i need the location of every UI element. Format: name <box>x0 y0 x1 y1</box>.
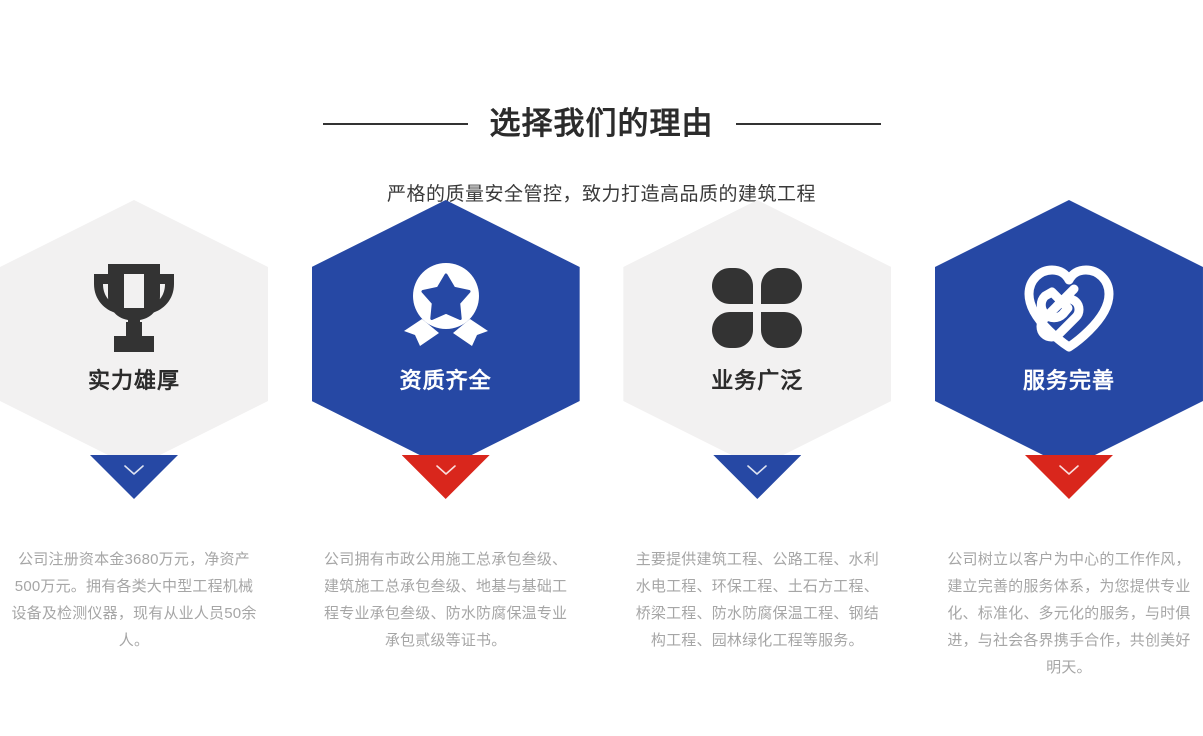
feature-card-description: 主要提供建筑工程、公路工程、水利水电工程、环保工程、土石方工程、桥梁工程、防水防… <box>632 546 882 654</box>
chevron-down-icon <box>435 464 457 477</box>
pointer-triangle <box>402 455 490 499</box>
hexagon-content: 资质齐全 <box>312 200 580 468</box>
pointer-triangle <box>713 455 801 499</box>
title-row: 选择我们的理由 <box>0 84 1203 164</box>
chevron-down-icon <box>1058 464 1080 477</box>
hexagon-badge[interactable]: 业务广泛 <box>623 200 891 496</box>
feature-card[interactable]: 业务广泛 主要提供建筑工程、公路工程、水利水电工程、环保工程、土石方工程、桥梁工… <box>623 200 891 681</box>
pointer-triangle <box>1025 455 1113 499</box>
hexagon-badge[interactable]: 资质齐全 <box>312 200 580 496</box>
title-rule-right <box>736 123 881 125</box>
feature-card-label: 实力雄厚 <box>88 368 180 394</box>
chevron-down-icon <box>746 464 768 477</box>
four-petal-clover-icon <box>712 256 802 360</box>
feature-card-label: 资质齐全 <box>400 368 492 394</box>
section-header: 选择我们的理由 严格的质量安全管控，致力打造高品质的建筑工程 <box>0 0 1203 206</box>
feature-card-description: 公司注册资本金3680万元，净资产500万元。拥有各类大中型工程机械设备及检测仪… <box>9 546 259 654</box>
chevron-down-icon <box>123 464 145 477</box>
hexagon-content: 服务完善 <box>935 200 1203 468</box>
feature-card-description: 公司拥有市政公用施工总承包叁级、建筑施工总承包叁级、地基与基础工程专业承包叁级、… <box>321 546 571 654</box>
feature-card[interactable]: 服务完善 公司树立以客户为中心的工作作风，建立完善的服务体系，为您提供专业化、标… <box>935 200 1203 681</box>
hexagon-content: 业务广泛 <box>623 200 891 468</box>
award-medal-icon <box>400 256 492 360</box>
hexagon-badge[interactable]: 实力雄厚 <box>0 200 268 496</box>
feature-card[interactable]: 实力雄厚 公司注册资本金3680万元，净资产500万元。拥有各类大中型工程机械设… <box>0 200 268 681</box>
page-title: 选择我们的理由 <box>490 105 714 143</box>
feature-card-label: 服务完善 <box>1023 368 1115 394</box>
feature-card-list: 实力雄厚 公司注册资本金3680万元，净资产500万元。拥有各类大中型工程机械设… <box>0 200 1203 681</box>
title-rule-left <box>323 123 468 125</box>
interlocking-hands-heart-icon <box>1019 256 1119 360</box>
pointer-triangle <box>90 455 178 499</box>
hexagon-badge[interactable]: 服务完善 <box>935 200 1203 496</box>
feature-card-label: 业务广泛 <box>711 368 803 394</box>
feature-card[interactable]: 资质齐全 公司拥有市政公用施工总承包叁级、建筑施工总承包叁级、地基与基础工程专业… <box>312 200 580 681</box>
feature-card-description: 公司树立以客户为中心的工作作风，建立完善的服务体系，为您提供专业化、标准化、多元… <box>944 546 1194 681</box>
hexagon-content: 实力雄厚 <box>0 200 268 468</box>
trophy-icon <box>88 256 180 360</box>
